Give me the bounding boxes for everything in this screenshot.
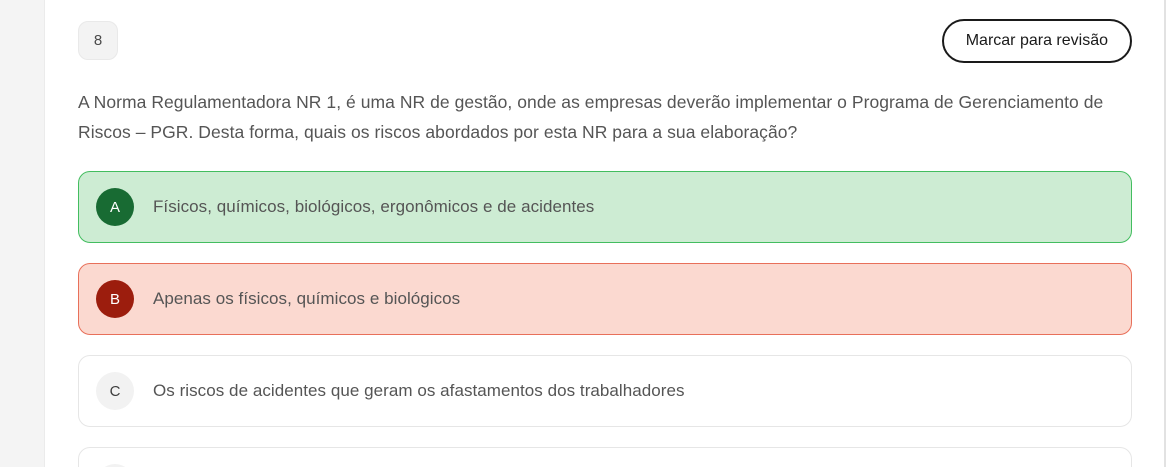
option-letter-badge-b: B [96,280,134,318]
answer-option-d[interactable] [78,447,1132,467]
question-header: 8 Marcar para revisão [78,0,1132,67]
answer-option-c[interactable]: C Os riscos de acidentes que geram os af… [78,355,1132,427]
quiz-screen: 8 Marcar para revisão A Norma Regulament… [0,0,1166,467]
option-letter-badge-c: C [96,372,134,410]
option-text-b: Apenas os físicos, químicos e biológicos [153,289,460,309]
mark-for-review-button[interactable]: Marcar para revisão [942,19,1132,63]
answer-option-a[interactable]: A Físicos, químicos, biológicos, ergonôm… [78,171,1132,243]
question-number-badge: 8 [78,21,118,60]
answer-options-list: A Físicos, químicos, biológicos, ergonôm… [78,171,1132,467]
option-text-a: Físicos, químicos, biológicos, ergonômic… [153,197,594,217]
left-gutter [0,0,45,467]
question-statement: A Norma Regulamentadora NR 1, é uma NR d… [78,87,1132,147]
answer-option-b[interactable]: B Apenas os físicos, químicos e biológic… [78,263,1132,335]
option-letter-badge-a: A [96,188,134,226]
question-panel: 8 Marcar para revisão A Norma Regulament… [46,0,1164,467]
option-text-c: Os riscos de acidentes que geram os afas… [153,381,685,401]
